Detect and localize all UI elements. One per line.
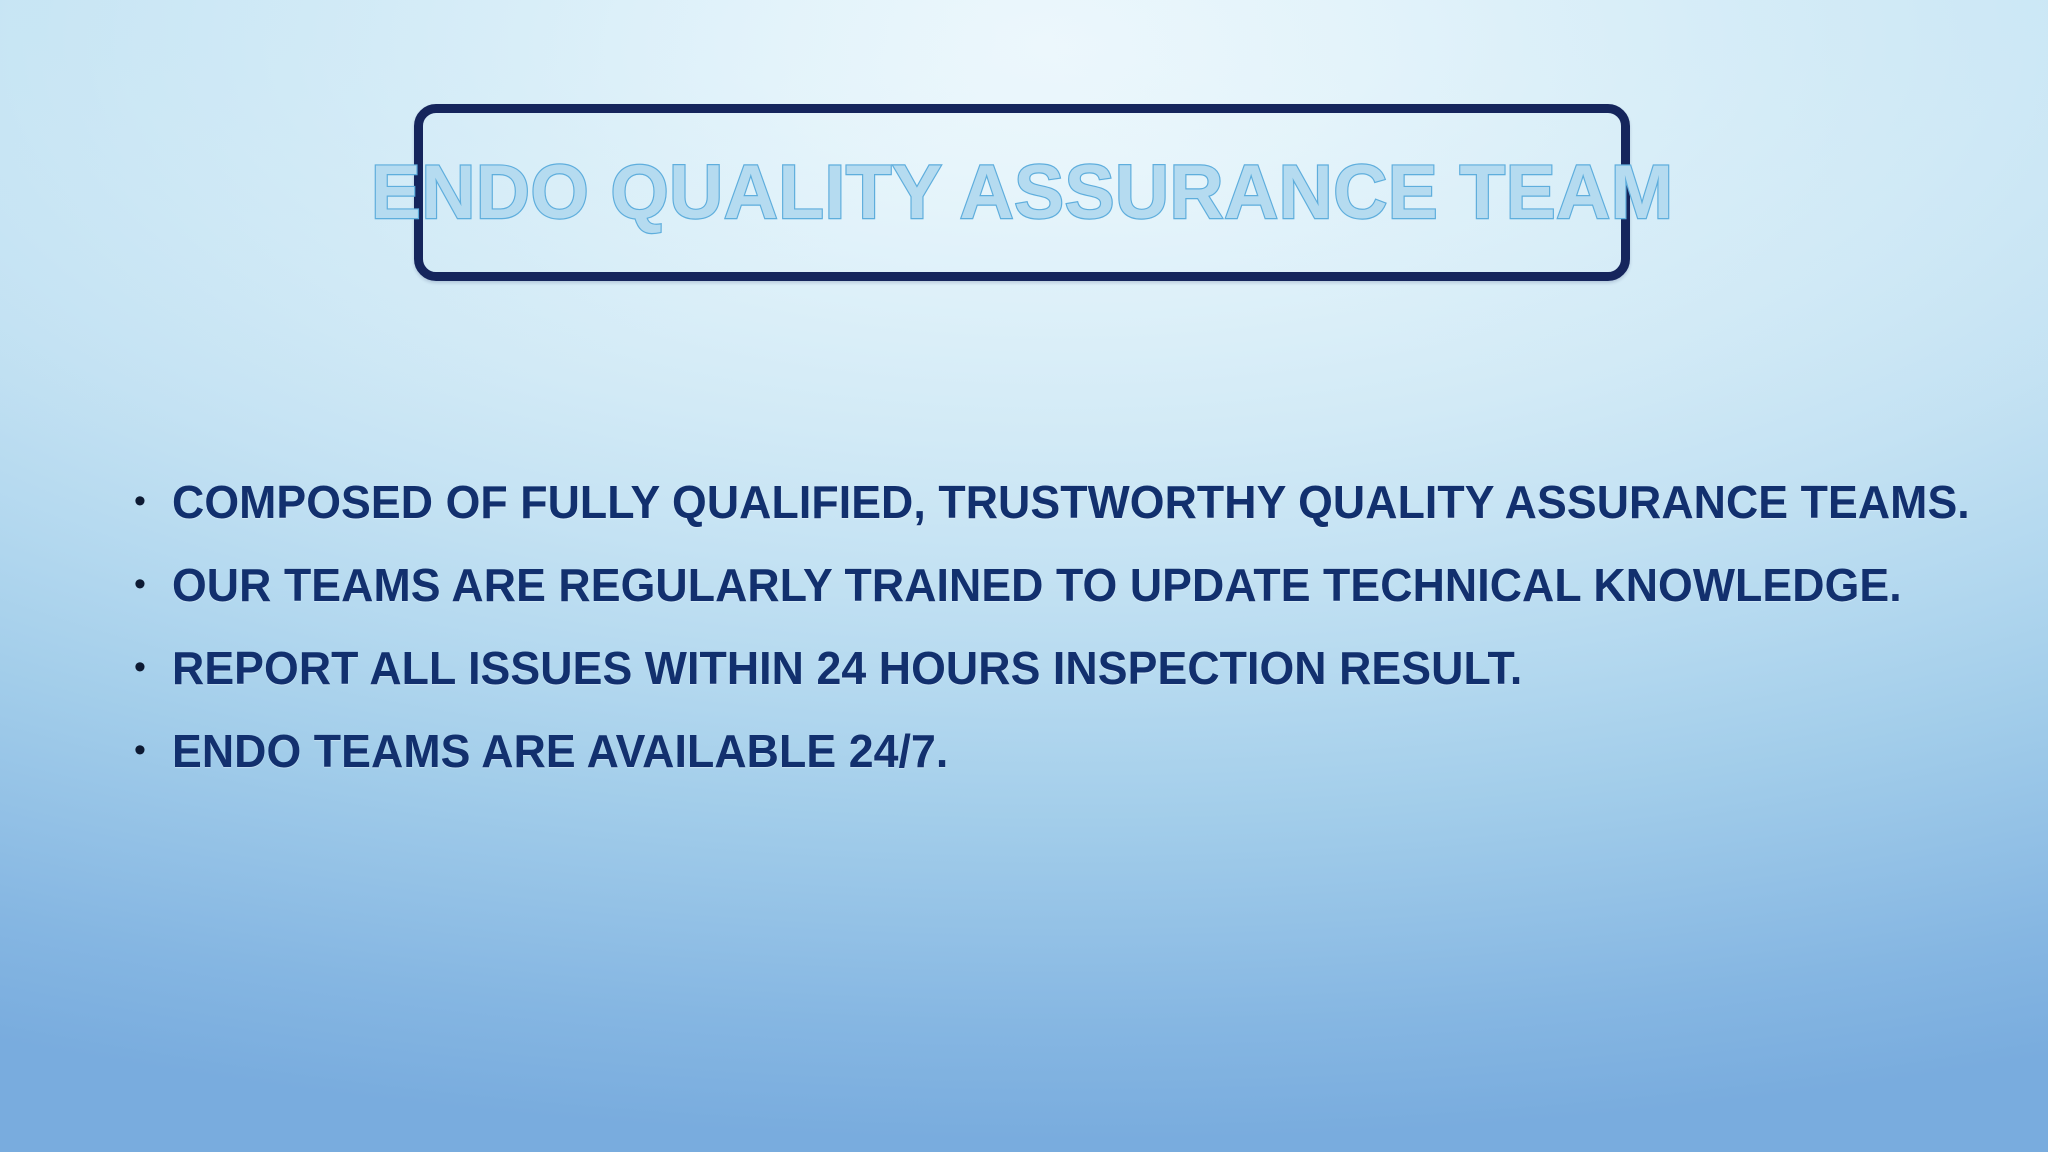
list-item-label: REPORT ALL ISSUES WITHIN 24 HOURS INSPEC… — [172, 644, 1522, 692]
list-item: • REPORT ALL ISSUES WITHIN 24 HOURS INSP… — [128, 644, 1988, 727]
slide-canvas: ENDO QUALITY ASSURANCE TEAM • COMPOSED O… — [0, 0, 2048, 1152]
title-plaque: ENDO QUALITY ASSURANCE TEAM — [414, 104, 1630, 281]
bullet-point-icon: • — [128, 561, 172, 607]
bullet-list: • COMPOSED OF FULLY QUALIFIED, TRUSTWORT… — [128, 478, 1988, 810]
list-item-label: ENDO TEAMS ARE AVAILABLE 24/7. — [172, 727, 948, 775]
list-item: • COMPOSED OF FULLY QUALIFIED, TRUSTWORT… — [128, 478, 1988, 561]
page-title: ENDO QUALITY ASSURANCE TEAM — [371, 155, 1674, 231]
list-item: • ENDO TEAMS ARE AVAILABLE 24/7. — [128, 727, 1988, 810]
bullet-point-icon: • — [128, 644, 172, 690]
list-item: • OUR TEAMS ARE REGULARLY TRAINED TO UPD… — [128, 561, 1988, 644]
list-item-label: OUR TEAMS ARE REGULARLY TRAINED TO UPDAT… — [172, 561, 1902, 609]
bullet-point-icon: • — [128, 727, 172, 773]
bullet-point-icon: • — [128, 478, 172, 524]
list-item-label: COMPOSED OF FULLY QUALIFIED, TRUSTWORTHY… — [172, 478, 1970, 526]
